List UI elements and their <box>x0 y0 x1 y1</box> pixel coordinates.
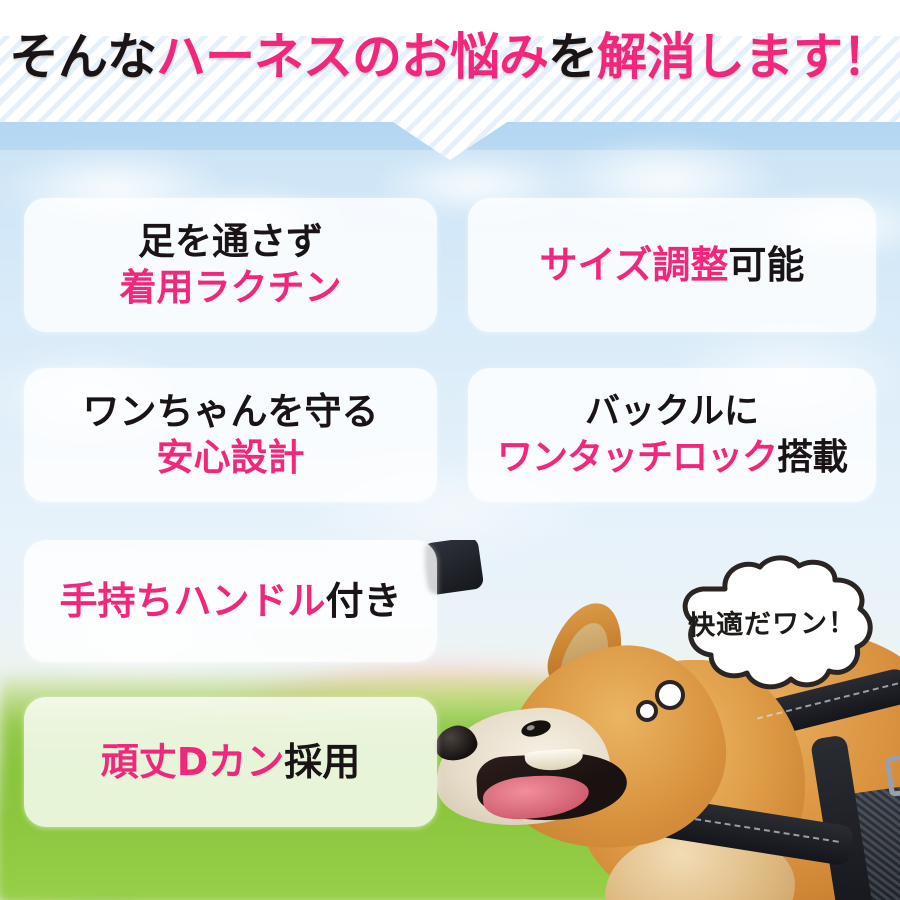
page-title-part2: ハーネスのお悩み <box>156 28 548 86</box>
feature-card-4-line1: バックルに <box>468 389 876 435</box>
feature-card-3-line1: ワンちゃんを守る <box>24 389 437 435</box>
feature-card-4-highlight: ワンタッチロック <box>497 437 777 478</box>
feature-card-5-line1: 手持ちハンドル付き <box>24 578 437 624</box>
feature-card-4: バックルに ワンタッチロック搭載 <box>468 368 876 502</box>
feature-card-6-plain: 採用 <box>284 740 360 784</box>
thought-bubble: 快適だワン！ <box>663 553 881 698</box>
advertisement-banner: 快適だワン！ 足を通さず 着用ラクチン サイズ調整可能 ワンちゃんを守る 安心設… <box>0 0 900 900</box>
feature-card-6-highlight: 頑丈Dカン <box>101 740 285 784</box>
feature-card-2-line1: サイズ調整可能 <box>468 242 876 288</box>
feature-card-1-line1: 足を通さず <box>24 219 437 265</box>
feature-card-1: 足を通さず 着用ラクチン <box>24 198 437 332</box>
feature-card-5: 手持ちハンドル付き <box>24 540 437 662</box>
feature-card-5-plain: 付き <box>326 579 402 623</box>
feature-card-4-plain: 搭載 <box>777 437 847 478</box>
feature-card-3: ワンちゃんを守る 安心設計 <box>24 368 437 502</box>
feature-card-4-line2: ワンタッチロック搭載 <box>468 435 876 481</box>
page-title-part1: そんな <box>9 28 156 86</box>
feature-card-3-line2: 安心設計 <box>24 435 437 481</box>
thought-bubble-text: 快適だワン！ <box>662 547 882 696</box>
feature-card-5-highlight: 手持ちハンドル <box>59 579 325 623</box>
thought-bubble-dot-small <box>636 700 658 722</box>
page-title-part4: 解消します！ <box>597 28 891 86</box>
feature-card-2-plain: 可能 <box>728 243 804 287</box>
feature-card-6-line1: 頑丈Dカン採用 <box>24 739 437 785</box>
feature-card-2-highlight: サイズ調整 <box>540 243 729 287</box>
page-title-part3: を <box>548 28 597 86</box>
page-title: そんなハーネスのお悩みを解消します！ <box>0 26 900 88</box>
feature-card-2: サイズ調整可能 <box>468 198 876 332</box>
feature-card-6: 頑丈Dカン採用 <box>24 697 437 827</box>
feature-card-1-line2: 着用ラクチン <box>24 265 437 311</box>
